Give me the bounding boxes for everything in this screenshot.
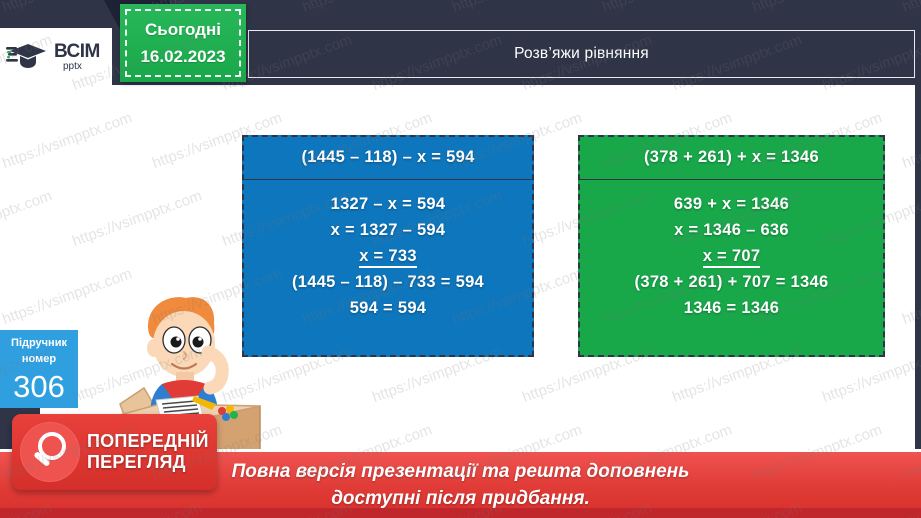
equation-step-result: x = 733 — [250, 243, 526, 269]
watermark-text: https://vsimpptx.com — [0, 187, 54, 250]
textbook-badge-number: 306 — [0, 368, 78, 405]
equation-card-green: (378 + 261) + x = 1346 639 + x = 1346 x … — [578, 135, 885, 357]
date-badge-label: Сьогодні — [120, 16, 246, 43]
equation-result-value: x = 733 — [359, 247, 417, 268]
magnifier-icon — [20, 422, 80, 482]
banner-line1: Повна версія презентації та решта доповн… — [232, 458, 690, 485]
watermark-text: https://vsimpptx.com — [0, 109, 134, 172]
equation-result-value: x = 707 — [703, 247, 761, 268]
date-badge: Сьогодні 16.02.2023 — [120, 4, 246, 82]
textbook-number-badge: Підручник номер 306 — [0, 330, 78, 408]
page-title: Розв’яжи рівняння — [514, 45, 649, 63]
equation-heading: (1445 – 118) – x = 594 — [244, 137, 532, 180]
banner-bottom-strip — [0, 508, 921, 518]
preview-line1: ПОПЕРЕДНІЙ — [87, 431, 209, 451]
textbook-badge-line1: Підручник — [0, 335, 78, 351]
logo-secondary-text: pptx — [63, 62, 100, 72]
equation-heading: (378 + 261) + x = 1346 — [580, 137, 883, 180]
slide-header-bar: Розв’яжи рівняння — [248, 30, 915, 78]
equation-step: x = 1346 – 636 — [586, 217, 877, 243]
watermark-text: https://vsimpptx.com — [70, 187, 204, 250]
equation-step: (378 + 261) + 707 = 1346 — [586, 269, 877, 295]
equation-step-result: x = 707 — [586, 243, 877, 269]
presentation-slide: ВСІМ pptx Сьогодні 16.02.2023 Розв’яжи р… — [0, 0, 921, 518]
date-badge-date: 16.02.2023 — [120, 43, 246, 70]
equation-step: 1327 – x = 594 — [250, 191, 526, 217]
equation-step: 1346 = 1346 — [586, 295, 877, 321]
equation-solution-steps: 639 + x = 1346 x = 1346 – 636 x = 707 (3… — [580, 180, 883, 333]
graduation-cap-icon — [6, 40, 52, 74]
right-edge-strip — [915, 0, 921, 518]
equation-step: 639 + x = 1346 — [586, 191, 877, 217]
preview-line2: ПЕРЕГЛЯД — [87, 452, 186, 472]
preview-sticker[interactable]: ПОПЕРЕДНІЙ ПЕРЕГЛЯД — [12, 414, 217, 490]
logo-primary-text: ВСІМ — [54, 42, 100, 61]
textbook-badge-line2: номер — [0, 351, 78, 367]
logo-container: ВСІМ pptx — [0, 28, 112, 85]
equation-step: x = 1327 – 594 — [250, 217, 526, 243]
